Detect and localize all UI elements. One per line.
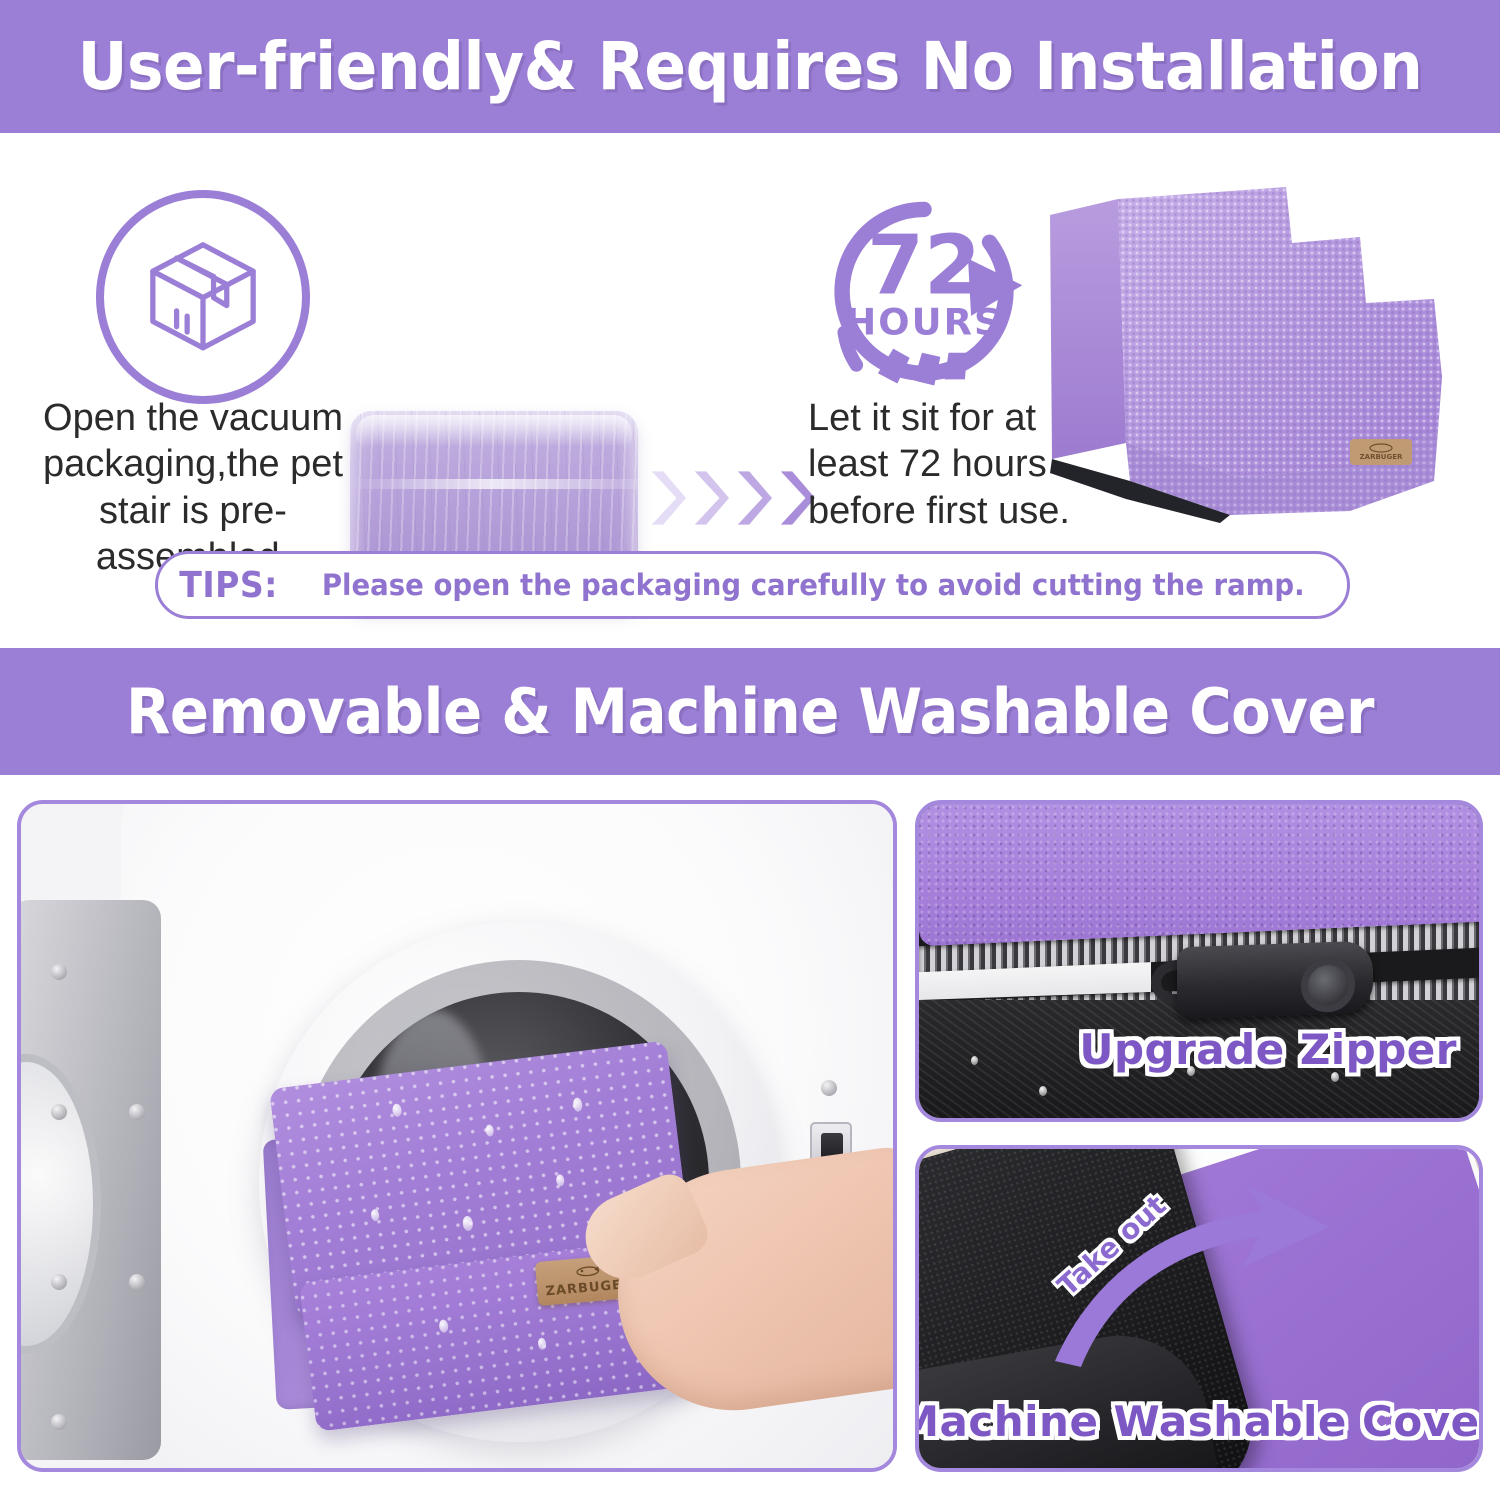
- 72-hours-icon: 72 HOURS: [820, 191, 1028, 406]
- brand-tag: ZARBUGER: [1350, 439, 1412, 465]
- washable-heading-band: Removable & Machine Washable Cover: [0, 648, 1500, 775]
- hours-unit: HOURS: [845, 300, 1002, 343]
- cover-removal-panel: Take out Machine Washable Cover: [915, 1145, 1483, 1472]
- package-box-icon: [137, 229, 269, 366]
- chevron-right-icon-3: [734, 467, 772, 529]
- zipper-detail-panel: Upgrade Zipper: [915, 800, 1483, 1122]
- tips-banner: TIPS: Please open the packaging carefull…: [155, 551, 1350, 619]
- tips-label: TIPS:: [179, 565, 278, 606]
- installation-heading-text: User-friendly& Requires No Installation: [78, 28, 1423, 105]
- pet-stair-product-image: ZARBUGER: [1030, 181, 1490, 526]
- progress-chevrons: [648, 467, 818, 529]
- svg-text:ZARBUGER: ZARBUGER: [1360, 453, 1403, 461]
- chevron-right-icon-2: [691, 467, 729, 529]
- installation-heading-band: User-friendly& Requires No Installation: [0, 0, 1500, 133]
- hours-number: 72: [867, 218, 981, 313]
- product-infographic: User-friendly& Requires No Installation …: [0, 0, 1500, 1485]
- upgrade-zipper-caption: Upgrade Zipper: [1079, 1025, 1457, 1074]
- package-box-icon-circle: [96, 190, 310, 404]
- zipper-slider: [1177, 941, 1373, 1020]
- washable-panels-section: ZARBUGER: [0, 775, 1500, 1485]
- washing-machine-photo-panel: ZARBUGER: [17, 800, 897, 1472]
- washable-heading-text: Removable & Machine Washable Cover: [126, 675, 1374, 748]
- tips-message: Please open the packaging carefully to a…: [322, 568, 1305, 602]
- machine-washable-cover-caption: Machine Washable Cover: [915, 1397, 1483, 1446]
- chevron-right-icon-1: [648, 467, 686, 529]
